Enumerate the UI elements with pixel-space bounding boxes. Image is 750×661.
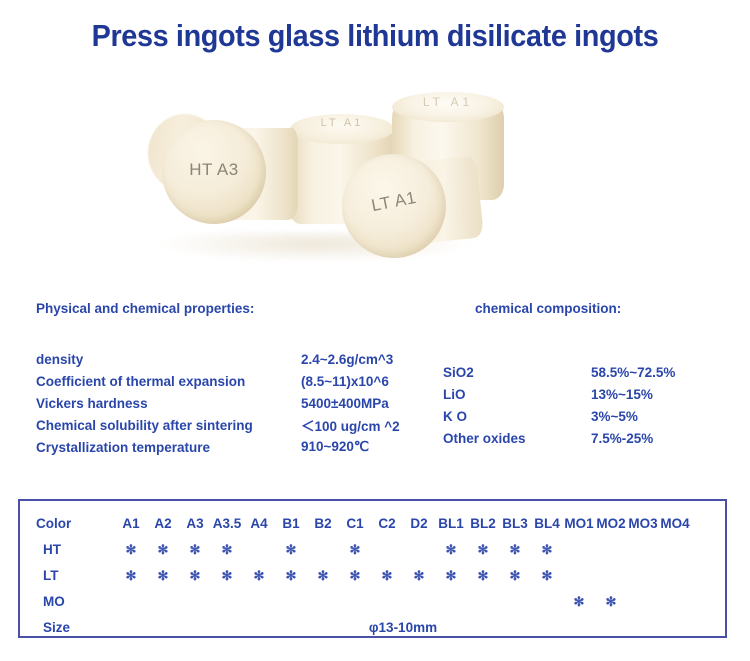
compound-name: Other oxides bbox=[443, 427, 591, 449]
shade-row-label-mo: MO bbox=[30, 588, 115, 614]
property-name: Chemical solubility after sintering bbox=[36, 414, 301, 436]
compound-value: 13%~15% bbox=[591, 383, 675, 405]
shade-column-header-bl3: BL3 bbox=[499, 510, 531, 536]
shade-mark-lt-a4: ✻ bbox=[243, 562, 275, 588]
shade-empty-cell bbox=[595, 562, 627, 588]
shade-mark-lt-b2: ✻ bbox=[307, 562, 339, 588]
shade-column-header-a1: A1 bbox=[115, 510, 147, 536]
shade-mark-ht-bl3: ✻ bbox=[499, 536, 531, 562]
compound-value: 58.5%~72.5% bbox=[591, 361, 675, 383]
shade-mark-lt-a2: ✻ bbox=[147, 562, 179, 588]
shade-mark-lt-bl3: ✻ bbox=[499, 562, 531, 588]
table-row: density 2.4~2.6g/cm^3 bbox=[36, 348, 400, 370]
shade-column-header-mo1: MO1 bbox=[563, 510, 595, 536]
shade-empty-cell bbox=[467, 588, 499, 614]
table-row: LiO 13%~15% bbox=[443, 383, 675, 405]
property-name: density bbox=[36, 348, 301, 370]
shade-mark-lt-bl2: ✻ bbox=[467, 562, 499, 588]
shade-mark-ht-a1: ✻ bbox=[115, 536, 147, 562]
table-row: K O 3%~5% bbox=[443, 405, 675, 427]
shade-empty-cell bbox=[659, 562, 691, 588]
shade-empty-cell bbox=[307, 536, 339, 562]
property-value: 2.4~2.6g/cm^3 bbox=[301, 348, 400, 370]
shade-empty-cell bbox=[563, 536, 595, 562]
shade-empty-cell bbox=[275, 588, 307, 614]
table-row: HT✻✻✻✻✻✻✻✻✻✻ bbox=[30, 536, 691, 562]
shade-empty-cell bbox=[627, 562, 659, 588]
shade-empty-cell bbox=[243, 536, 275, 562]
shade-column-header-a2: A2 bbox=[147, 510, 179, 536]
shade-mark-lt-bl1: ✻ bbox=[435, 562, 467, 588]
shade-empty-cell bbox=[371, 588, 403, 614]
shade-corner-label: Color bbox=[30, 510, 115, 536]
shade-column-header-a4: A4 bbox=[243, 510, 275, 536]
property-value: 910~920℃ bbox=[301, 436, 400, 458]
shade-column-header-a3-5: A3.5 bbox=[211, 510, 243, 536]
shade-column-header-d2: D2 bbox=[403, 510, 435, 536]
table-row: Crystallization temperature 910~920℃ bbox=[36, 436, 400, 458]
property-value: 5400±400MPa bbox=[301, 392, 400, 414]
shade-mark-ht-b1: ✻ bbox=[275, 536, 307, 562]
shade-empty-cell bbox=[499, 588, 531, 614]
shade-availability-table: ColorA1A2A3A3.5A4B1B2C1C2D2BL1BL2BL3BL4M… bbox=[30, 510, 691, 640]
table-row: SiO2 58.5%~72.5% bbox=[443, 361, 675, 383]
shade-mark-ht-a3-5: ✻ bbox=[211, 536, 243, 562]
table-row: Vickers hardness 5400±400MPa bbox=[36, 392, 400, 414]
shade-mark-ht-a2: ✻ bbox=[147, 536, 179, 562]
chemical-composition-table: SiO2 58.5%~72.5% LiO 13%~15% K O 3%~5% O… bbox=[443, 361, 675, 449]
shade-column-header-mo3: MO3 bbox=[627, 510, 659, 536]
shade-row-label-ht: HT bbox=[30, 536, 115, 562]
shade-empty-cell bbox=[563, 562, 595, 588]
shade-column-header-bl1: BL1 bbox=[435, 510, 467, 536]
shade-mark-ht-bl4: ✻ bbox=[531, 536, 563, 562]
shade-empty-cell bbox=[403, 588, 435, 614]
compound-name: SiO2 bbox=[443, 361, 591, 383]
shade-mark-mo-mo2: ✻ bbox=[595, 588, 627, 614]
ingot-back-tall-label: LT A1 bbox=[392, 95, 504, 109]
table-row: Chemical solubility after sintering ＜100… bbox=[36, 414, 400, 436]
shade-empty-cell bbox=[147, 588, 179, 614]
shade-mark-lt-b1: ✻ bbox=[275, 562, 307, 588]
shade-mark-lt-a3: ✻ bbox=[179, 562, 211, 588]
property-value: (8.5~11)x10^6 bbox=[301, 370, 400, 392]
shade-empty-cell bbox=[435, 588, 467, 614]
shade-column-header-c1: C1 bbox=[339, 510, 371, 536]
property-name: Crystallization temperature bbox=[36, 436, 301, 458]
shade-mark-ht-bl1: ✻ bbox=[435, 536, 467, 562]
shade-mark-lt-c2: ✻ bbox=[371, 562, 403, 588]
shade-column-header-bl4: BL4 bbox=[531, 510, 563, 536]
shade-empty-cell bbox=[659, 536, 691, 562]
shade-mark-lt-bl4: ✻ bbox=[531, 562, 563, 588]
shade-empty-cell bbox=[627, 536, 659, 562]
shade-row-label-lt: LT bbox=[30, 562, 115, 588]
shade-empty-cell bbox=[595, 536, 627, 562]
shade-column-header-c2: C2 bbox=[371, 510, 403, 536]
shade-mark-mo-mo1: ✻ bbox=[563, 588, 595, 614]
compound-name: K O bbox=[443, 405, 591, 427]
property-name: Coefficient of thermal expansion bbox=[36, 370, 301, 392]
shade-empty-cell bbox=[371, 536, 403, 562]
shade-empty-cell bbox=[339, 588, 371, 614]
chemical-composition-heading: chemical composition: bbox=[475, 301, 621, 316]
property-name: Vickers hardness bbox=[36, 392, 301, 414]
shade-empty-cell bbox=[115, 588, 147, 614]
shade-mark-ht-bl2: ✻ bbox=[467, 536, 499, 562]
shade-empty-cell bbox=[659, 588, 691, 614]
shade-empty-cell bbox=[307, 588, 339, 614]
shade-size-value: φ13-10mm bbox=[115, 614, 691, 640]
shade-column-header-a3: A3 bbox=[179, 510, 211, 536]
table-row: MO✻✻ bbox=[30, 588, 691, 614]
shade-mark-lt-a1: ✻ bbox=[115, 562, 147, 588]
shade-mark-lt-c1: ✻ bbox=[339, 562, 371, 588]
property-value: ＜100 ug/cm ^2 bbox=[301, 414, 400, 436]
physical-properties-table: density 2.4~2.6g/cm^3 Coefficient of the… bbox=[36, 348, 400, 458]
shade-empty-cell bbox=[243, 588, 275, 614]
product-photo: LT A1 LT A1 HT A3 LT A1 bbox=[140, 92, 490, 267]
shade-column-header-mo2: MO2 bbox=[595, 510, 627, 536]
shade-mark-lt-a3-5: ✻ bbox=[211, 562, 243, 588]
shade-size-row: Sizeφ13-10mm bbox=[30, 614, 691, 640]
table-row: Coefficient of thermal expansion (8.5~11… bbox=[36, 370, 400, 392]
shade-empty-cell bbox=[627, 588, 659, 614]
shade-size-label: Size bbox=[30, 614, 115, 640]
table-row: LT✻✻✻✻✻✻✻✻✻✻✻✻✻✻ bbox=[30, 562, 691, 588]
shade-mark-lt-d2: ✻ bbox=[403, 562, 435, 588]
ingot-ht-a3-label: HT A3 bbox=[162, 160, 266, 180]
shade-column-header-mo4: MO4 bbox=[659, 510, 691, 536]
compound-value: 3%~5% bbox=[591, 405, 675, 427]
physical-properties-heading: Physical and chemical properties: bbox=[36, 301, 254, 316]
shade-empty-cell bbox=[179, 588, 211, 614]
ingot-back-center-label: LT A1 bbox=[290, 117, 394, 129]
compound-name: LiO bbox=[443, 383, 591, 405]
shade-column-header-b1: B1 bbox=[275, 510, 307, 536]
shade-mark-ht-a3: ✻ bbox=[179, 536, 211, 562]
table-row: Other oxides 7.5%-25% bbox=[443, 427, 675, 449]
shade-empty-cell bbox=[531, 588, 563, 614]
shade-mark-ht-c1: ✻ bbox=[339, 536, 371, 562]
shade-column-header-b2: B2 bbox=[307, 510, 339, 536]
shade-column-header-bl2: BL2 bbox=[467, 510, 499, 536]
shade-header-row: ColorA1A2A3A3.5A4B1B2C1C2D2BL1BL2BL3BL4M… bbox=[30, 510, 691, 536]
shade-empty-cell bbox=[211, 588, 243, 614]
shade-empty-cell bbox=[403, 536, 435, 562]
compound-value: 7.5%-25% bbox=[591, 427, 675, 449]
page-title: Press ingots glass lithium disilicate in… bbox=[26, 18, 724, 54]
